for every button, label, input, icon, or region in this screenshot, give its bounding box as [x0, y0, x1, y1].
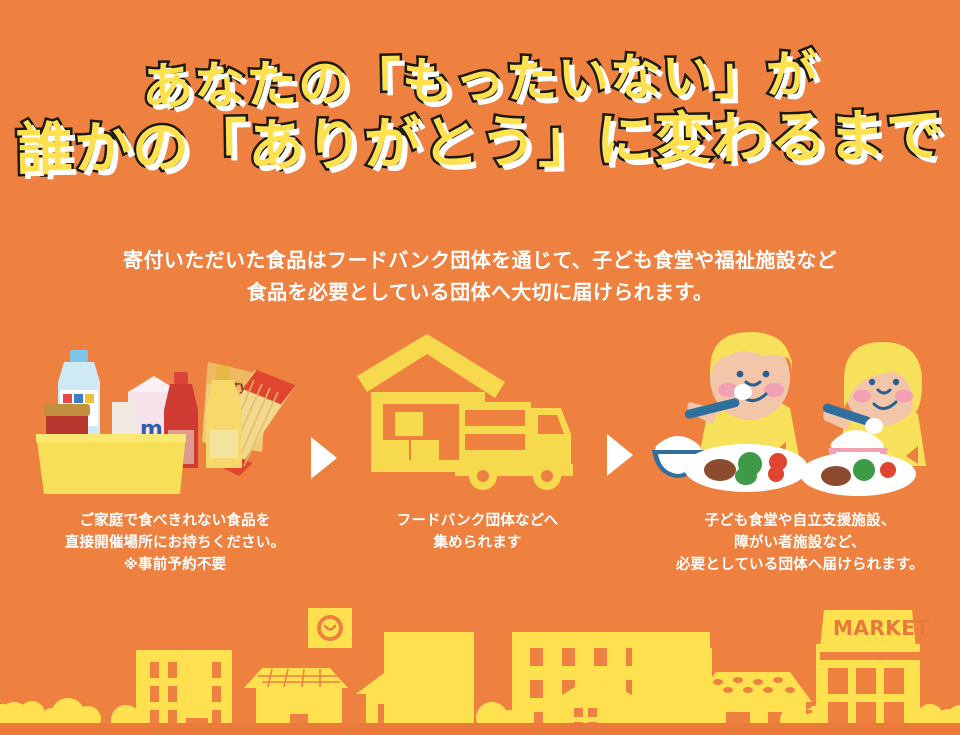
subtitle-line-1: 寄付いただいた食品はフードバンク団体を通じて、子ども食堂や福祉施設など: [0, 244, 960, 276]
delivery-truck-icon: [455, 402, 573, 490]
step-donate-caption: ご家庭で食べきれない食品を 直接開催場所にお持ちください。 ※事前予約不要: [30, 510, 320, 576]
children-eating-illustration: [650, 330, 950, 500]
steps-row: rry: [0, 330, 960, 600]
food-box-illustration: rry: [30, 330, 320, 500]
food-plate-right: [800, 452, 916, 496]
warehouse-truck-illustration: [355, 330, 600, 500]
title-line-2: 誰かの「ありがとう」に変わるまで: [0, 107, 960, 179]
poster-root: あなたの「もったいない」が 誰かの「ありがとう」に変わるまで 寄付いただいた食品…: [0, 0, 960, 735]
caption-line: フードバンク団体などへ: [355, 510, 600, 532]
step-deliver-caption: 子ども食堂や自立支援施設、 障がい者施設など、 必要としている団体へ届けられます…: [650, 510, 950, 576]
step-deliver: 子ども食堂や自立支援施設、 障がい者施設など、 必要としている団体へ届けられます…: [650, 330, 950, 600]
step-collect-caption: フードバンク団体などへ 集められます: [355, 510, 600, 554]
arrow-right-icon-1: [311, 437, 337, 479]
step-collect: フードバンク団体などへ 集められます: [355, 330, 600, 600]
caption-line: ご家庭で食べきれない食品を: [30, 510, 320, 532]
market-sign-label: MARKET: [833, 616, 930, 640]
children-eating-svg: [650, 330, 950, 505]
poster-title: あなたの「もったいない」が 誰かの「ありがとう」に変わるまで: [0, 56, 960, 172]
poster-subtitle: 寄付いただいた食品はフードバンク団体を通じて、子ども食堂や福祉施設など 食品を必…: [0, 244, 960, 309]
subtitle-line-2: 食品を必要としている団体へ大切に届けられます。: [0, 276, 960, 308]
caption-line: 子ども食堂や自立支援施設、: [650, 510, 950, 532]
caption-line: 必要としている団体へ届けられます。: [650, 554, 950, 576]
cityscape-svg: MARKET: [0, 590, 960, 735]
caption-line: 集められます: [355, 532, 600, 554]
caption-line: 直接開催場所にお持ちください。: [30, 532, 320, 554]
market-store: MARKET: [816, 610, 930, 735]
caption-line: ※事前予約不要: [30, 554, 320, 576]
food-box-svg: rry: [30, 330, 320, 500]
step-donate: rry: [30, 330, 320, 600]
ground-strip: [0, 723, 960, 735]
arrow-right-icon-2: [607, 434, 633, 476]
warehouse-truck-svg: [355, 330, 600, 500]
caption-line: 障がい者施設など、: [650, 532, 950, 554]
cityscape: MARKET: [0, 590, 960, 735]
food-plate-left: [684, 444, 808, 492]
